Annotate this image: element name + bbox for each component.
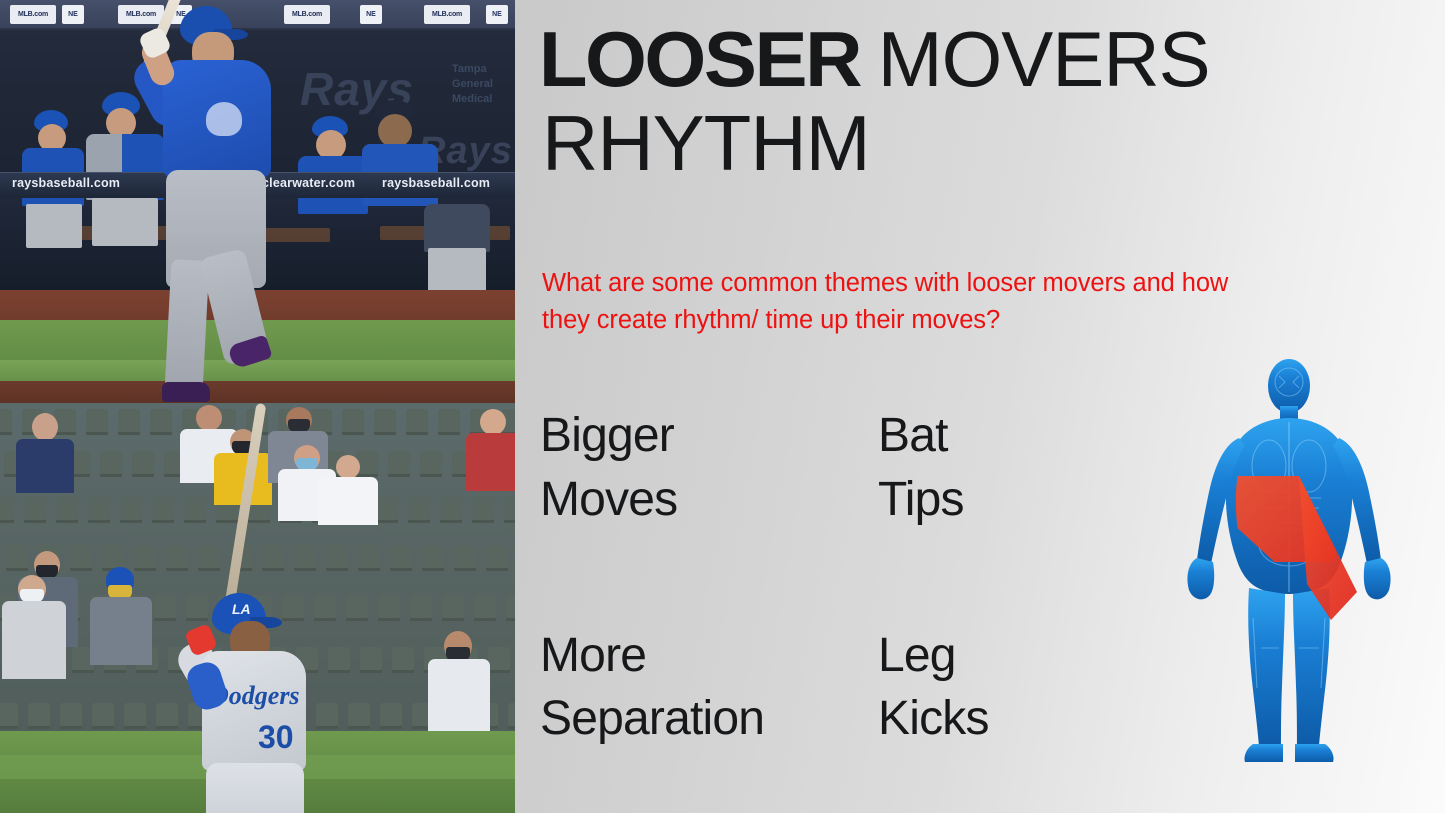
signage-raysbaseball: raysbaseball.com [12,176,120,190]
batter-pants [206,763,304,813]
batter-figure-top [118,2,348,402]
photo-batter-leg-kick-dugout: Rays Rays TampaGeneralMedical MLB.com NE… [0,0,515,403]
subtitle-question: What are some common themes with looser … [542,265,1242,338]
title-block: LOOSER MOVERS RHYTHM [542,22,1342,181]
title-line-2: RHYTHM [542,106,1342,182]
photo-column: Rays Rays TampaGeneralMedical MLB.com NE… [0,0,515,813]
jersey-logo [206,102,242,136]
jersey-number: 30 [258,719,294,756]
dugout-player [420,182,498,304]
spectator [428,631,492,731]
mlb-badge: MLB.com [10,5,56,24]
newera-badge: NE [486,5,508,24]
title-rhythm: RHYTHM [542,99,870,187]
batter-back-leg [165,259,210,393]
bullet-grid: Bigger Moves Bat Tips More Separation Le… [540,404,1120,751]
title-movers: MOVERS [857,15,1210,103]
spectator [2,575,68,679]
spectator-brewers-jersey [318,455,380,525]
newera-badge: NE [62,5,84,24]
spectator [14,413,78,493]
human-anatomy-figure [1181,348,1397,768]
mlb-badge: MLB.com [424,5,470,24]
bullet-bat-tips: Bat Tips [878,404,1120,532]
helmet-la-logo: LA [232,601,250,615]
batter-back-cleat [162,382,210,402]
content-panel: LOOSER MOVERS RHYTHM What are some commo… [515,0,1445,813]
bullet-bigger-moves: Bigger Moves [540,404,878,532]
spectator-dodgers-cap [90,567,154,665]
bullet-more-separation: More Separation [540,624,878,752]
signage-raysbaseball-2: raysbaseball.com [382,176,490,190]
newera-badge: NE [360,5,382,24]
spectator [466,409,515,491]
title-looser: LOOSER [539,22,860,98]
batter-figure-bottom: LA Dodgers 30 [160,593,410,813]
title-line-1: LOOSER MOVERS [542,22,1342,98]
bullet-leg-kicks: Leg Kicks [878,624,1120,752]
photo-dodgers-batter-stands: Wy Co. Dodgers 9 LA [0,403,515,813]
medical-sponsor-text: TampaGeneralMedical [452,62,493,107]
slide-root: Rays Rays TampaGeneralMedical MLB.com NE… [0,0,1445,813]
